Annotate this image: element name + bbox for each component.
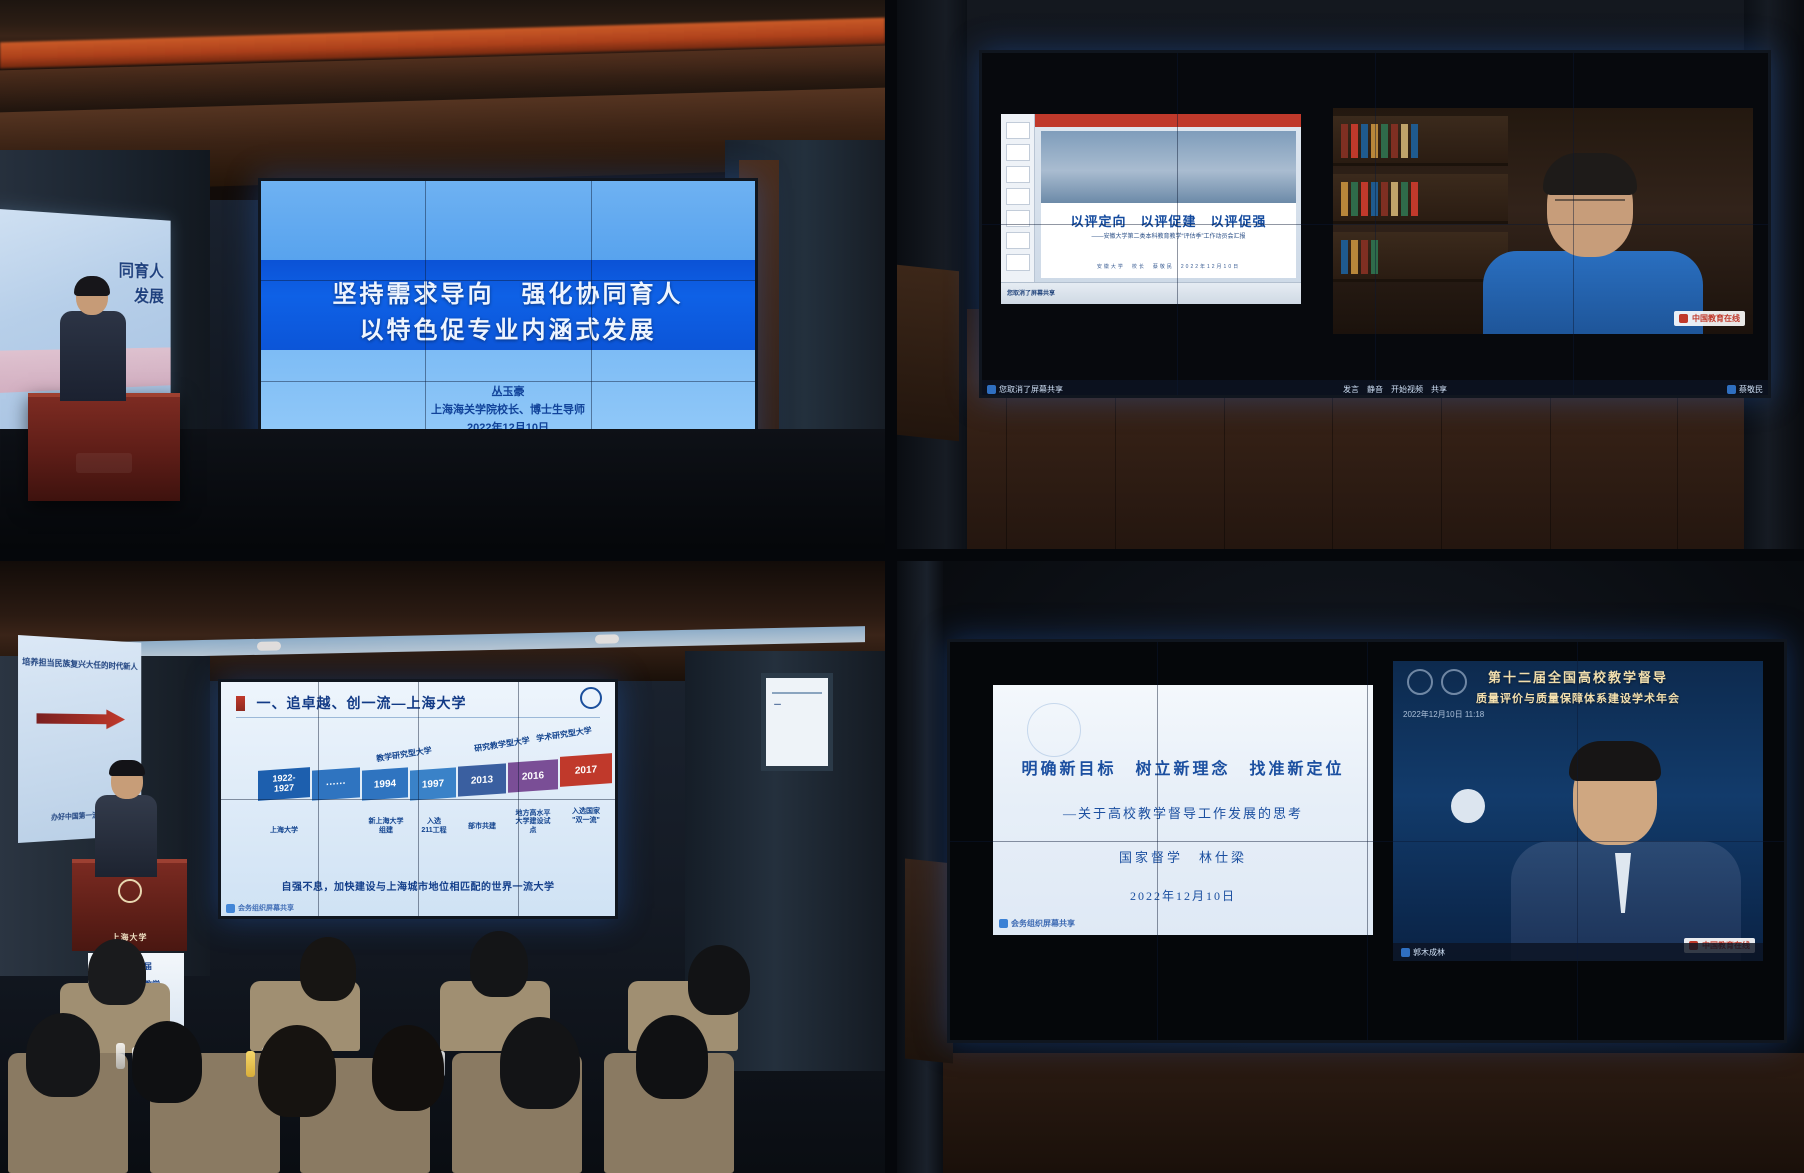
- panel-bottom-right-dual-screen: 明确新目标 树立新理念 找准新定位 —关于高校教学督导工作发展的思考 国家督学 …: [897, 561, 1804, 1173]
- video-wall-bezel: [218, 679, 618, 919]
- panel-bottom-left-audience: 培养担当民族复兴大任的时代新人 办好中国第一流大学 一 一、追卓越、创一流—上海…: [0, 561, 897, 1173]
- speaker-person: [60, 279, 126, 399]
- wood-paneled-wall: [897, 1053, 1804, 1173]
- wall-frame-label: 一: [774, 700, 781, 710]
- video-wall-bezel: [979, 50, 1771, 398]
- main-led-video-wall: 明确新目标 树立新理念 找准新定位 —关于高校教学督导工作发展的思考 国家督学 …: [947, 639, 1787, 1043]
- video-wall-bezel: [947, 639, 1787, 1043]
- panel-top-left-lecture-hall: 同育人 发展 坚持需求导向 强化协同育人 以特色促专业内涵式发展 丛玉豪 上海海…: [0, 0, 897, 561]
- audience-seating: [0, 933, 885, 1173]
- side-screen-header: 培养担当民族复兴大任的时代新人: [18, 656, 141, 673]
- main-led-video-wall: 一、追卓越、创一流—上海大学 教学研究型大学 研究教学型大学 学术研究型大学 1…: [218, 679, 618, 919]
- wooden-lectern: [905, 858, 953, 1063]
- podium-crest-icon: [118, 879, 142, 903]
- conference-led-video-wall: 以评定向 以评促建 以评促强 ——安徽大学第二类本科教育教学“评估季”工作动员会…: [979, 50, 1771, 398]
- wall-picture-frame: 一: [761, 673, 833, 771]
- panel-top-right-video-conference: 以评定向 以评促建 以评促强 ——安徽大学第二类本科教育教学“评估季”工作动员会…: [897, 0, 1804, 561]
- side-screen-arrow-graphic: [37, 708, 126, 729]
- wooden-lectern: [897, 265, 959, 442]
- speaker-person: [95, 763, 157, 873]
- speaker-podium: [28, 393, 180, 501]
- collage-grid: 同育人 发展 坚持需求导向 强化协同育人 以特色促专业内涵式发展 丛玉豪 上海海…: [0, 0, 1804, 1173]
